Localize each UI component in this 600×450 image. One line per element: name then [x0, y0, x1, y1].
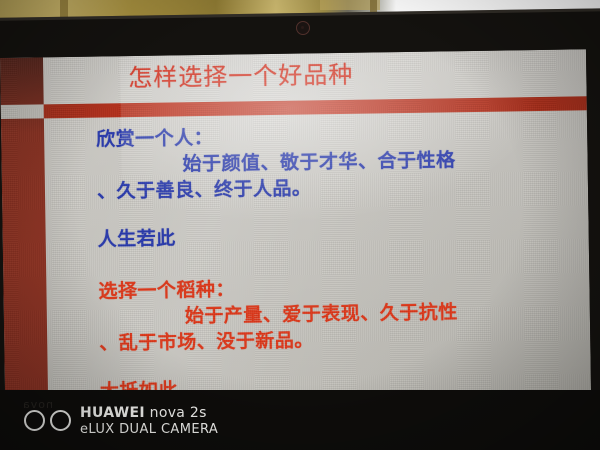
indent-spacer	[97, 170, 183, 171]
rice-line-indented-text: 始于产量、爱于表现、久于抗性	[185, 301, 458, 327]
slide-band-notch	[1, 104, 44, 119]
slide-title-divider	[44, 96, 587, 118]
camera-watermark: HUAWEI nova 2s eLUX DUAL CAMERA	[24, 405, 218, 437]
webcam-lens-dot	[301, 26, 304, 29]
watermark-model: nova 2s	[150, 405, 207, 421]
indent-spacer-2	[99, 322, 185, 323]
slide-block-person: 欣赏一个人： 始于颜值、敬于才华、合于性格 、久于善良、终于人品。	[96, 120, 537, 205]
lens-circle-left	[24, 410, 45, 431]
watermark-line-brand: HUAWEI nova 2s	[80, 405, 218, 422]
slide-title: 怎样选择一个好品种	[128, 59, 353, 94]
photo-canvas: 怎样选择一个好品种 欣赏一个人： 始于颜值、敬于才华、合于性格 、久于善良、终于…	[0, 0, 600, 450]
slide-block-rice-variety: 选择一个稻种： 始于产量、爱于表现、久于抗性 、乱于市场、没于新品。	[98, 272, 539, 357]
presentation-slide: 怎样选择一个好品种 欣赏一个人： 始于颜值、敬于才华、合于性格 、久于善良、终于…	[0, 49, 591, 402]
lens-circle-right	[50, 410, 71, 431]
watermark-text: HUAWEI nova 2s eLUX DUAL CAMERA	[80, 405, 218, 437]
watermark-subtitle: eLUX DUAL CAMERA	[80, 422, 218, 437]
watermark-brand: HUAWEI	[80, 405, 145, 421]
person-line-indented-text: 始于颜值、敬于才华、合于性格	[182, 149, 455, 175]
slide-body: 欣赏一个人： 始于颜值、敬于才华、合于性格 、久于善良、终于人品。 人生若此 选…	[96, 120, 540, 402]
monitor-screen: 怎样选择一个好品种 欣赏一个人： 始于颜值、敬于才华、合于性格 、久于善良、终于…	[0, 49, 591, 402]
dual-camera-lens-icon	[24, 410, 71, 431]
